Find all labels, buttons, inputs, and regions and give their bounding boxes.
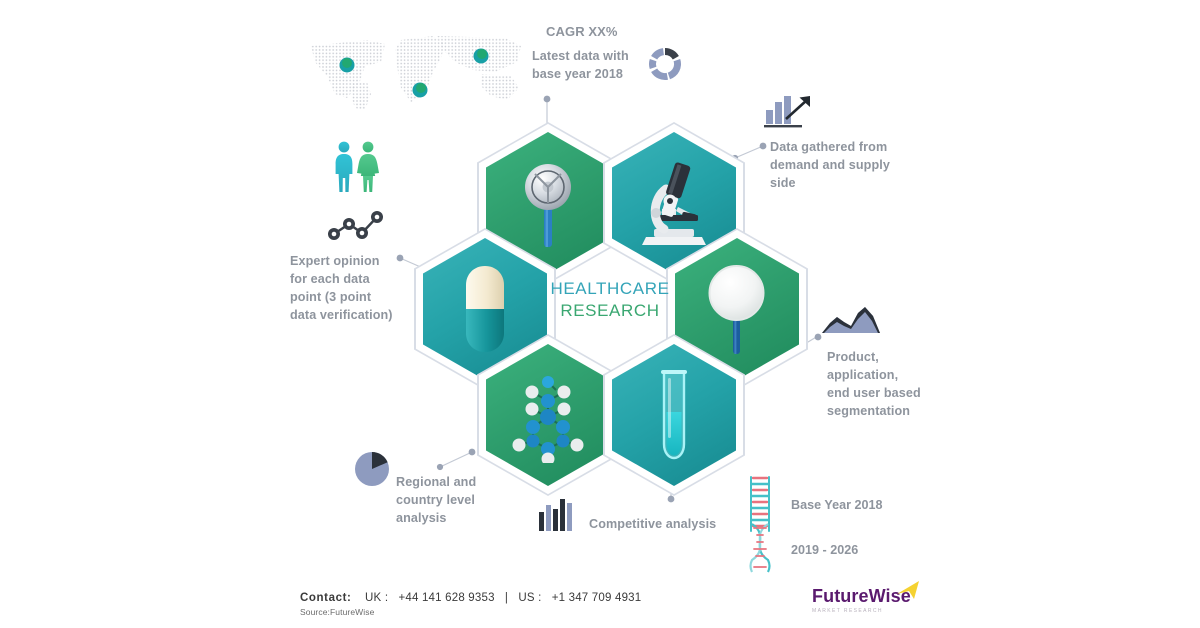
us-label: US : <box>518 592 541 604</box>
magnifying-glass-icon <box>705 262 769 356</box>
uk-label: UK : <box>365 592 388 604</box>
molecule-icon <box>505 367 591 463</box>
test-tube-icon <box>652 368 696 462</box>
logo-name-part1: Future <box>812 586 869 606</box>
contact-label: Contact: <box>300 592 351 604</box>
infographic-canvas: CAGR XX% Latest data with base year 2018 <box>0 0 1200 628</box>
title-line-2: RESEARCH <box>530 300 690 322</box>
page-title: HEALTHCARE RESEARCH <box>530 278 690 323</box>
logo-arrow-icon <box>895 581 921 601</box>
futurewise-logo[interactable]: FutureWise MARKET RESEARCH <box>812 586 911 614</box>
uk-phone[interactable]: +44 141 628 9353 <box>398 592 494 604</box>
contact-line: Contact: UK : +44 141 628 9353 | US : +1… <box>300 592 641 604</box>
hexagon-testtube[interactable] <box>612 344 736 486</box>
title-line-1: HEALTHCARE <box>530 278 690 300</box>
capsule-pill-icon <box>462 264 508 354</box>
stethoscope-icon <box>513 155 583 251</box>
contact-separator: | <box>505 592 508 604</box>
us-phone[interactable]: +1 347 709 4931 <box>552 592 642 604</box>
contact-block: Contact: UK : +44 141 628 9353 | US : +1… <box>300 592 641 617</box>
microscope-icon <box>632 157 716 249</box>
hexagon-molecule[interactable] <box>486 344 610 486</box>
source-label: Source:FutureWise <box>300 607 641 617</box>
logo-tagline: MARKET RESEARCH <box>812 608 911 614</box>
